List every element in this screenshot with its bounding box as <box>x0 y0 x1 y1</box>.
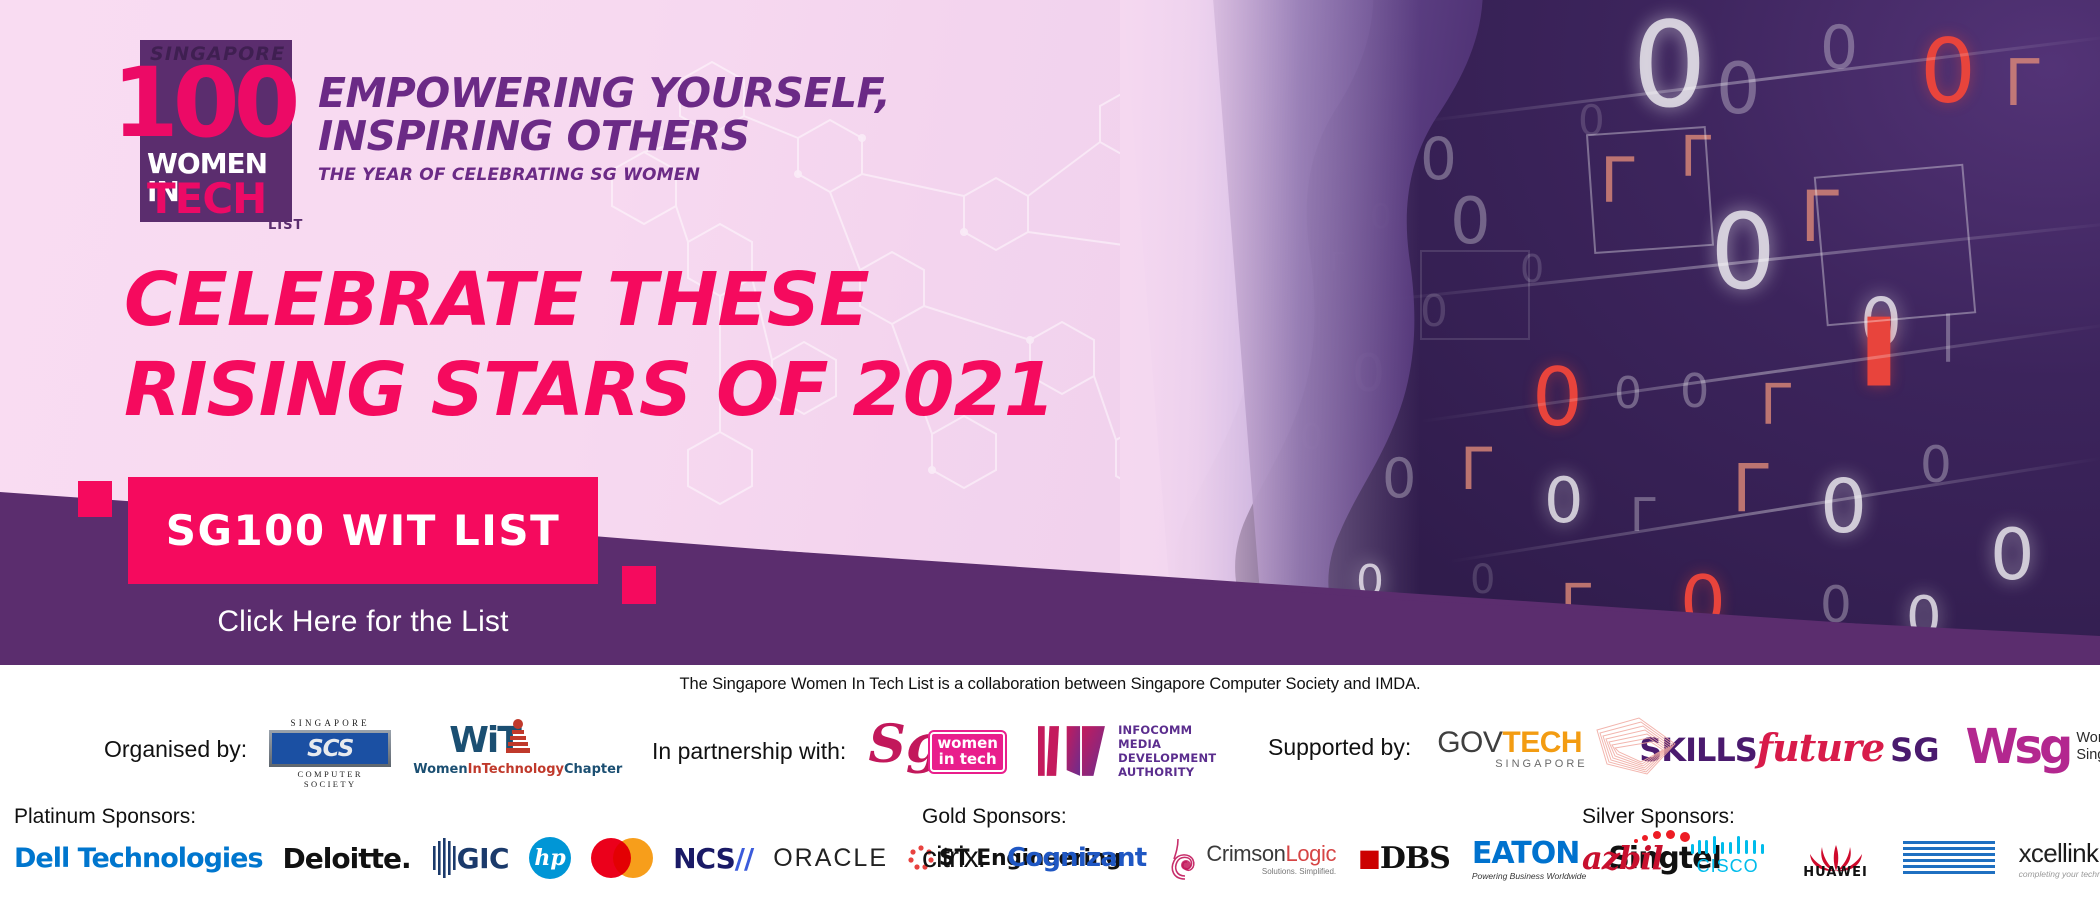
hero-headline: CELEBRATE THESE RISING STARS OF 2021 <box>124 255 1054 436</box>
govtech-singapore-logo[interactable]: GOVTECH SINGAPORE <box>1437 718 1613 776</box>
citrix-text: citrix. <box>922 841 985 875</box>
mastercard-logo[interactable] <box>591 838 653 878</box>
eaton-text: EATON <box>1472 836 1579 871</box>
in-partnership-with-label: In partnership with: <box>652 738 846 765</box>
imda-line-3: DEVELOPMENT <box>1118 751 1216 765</box>
ibm-bars-icon <box>1903 841 1995 875</box>
xcel-word: xcel <box>2019 838 2062 868</box>
cisco-logo[interactable]: CISCO <box>1687 836 1769 880</box>
link-word: link <box>2062 838 2098 868</box>
deloitte-logo[interactable]: Deloitte. <box>283 842 411 875</box>
partner-group-in-partnership: In partnership with: Sg women in tech <box>652 718 1216 784</box>
wire-frame <box>1814 164 1977 327</box>
wit-sub-a: Women <box>413 762 467 777</box>
wsg-line-1: Workforce <box>2076 730 2100 747</box>
chess-pawn-icon <box>503 718 533 762</box>
tagline-sub: THE YEAR OF CELEBRATING SG WOMEN <box>318 165 890 185</box>
scs-top-text: SINGAPORE <box>269 718 391 728</box>
ncs-slashes: // <box>735 842 753 875</box>
govtech-swirl-icon <box>1587 714 1683 780</box>
women-in-technology-chapter-logo[interactable]: WiT WomenInTechnologyChapter <box>413 718 593 780</box>
singapore-computer-society-logo[interactable]: SINGAPORE SCS COMPUTER SOCIETY <box>269 718 391 780</box>
xcellink-text-block: xcellink.pte.ltd. completing your techno… <box>2019 838 2100 879</box>
govtech-sub-text: SINGAPORE <box>1495 758 1587 770</box>
imda-line-4: AUTHORITY <box>1118 765 1216 779</box>
logo-tech-text: TECH <box>147 178 266 220</box>
govtech-gov-text: GOV <box>1437 726 1502 759</box>
wsg-line-2: Singapore <box>2076 747 2100 764</box>
ncs-logo[interactable]: NCS// <box>673 842 753 875</box>
hero-photo-digital-head: 0 0 0 0 0 Γ 0 0 0 0 Γ Γ Γ 0 0 0 0 0 0 Γ <box>1120 0 2100 665</box>
skillsfuture-future-text: future <box>1757 725 1884 770</box>
hero-tagline: EMPOWERING YOURSELF, INSPIRING OTHERS TH… <box>318 72 890 185</box>
tagline-line-2: INSPIRING OTHERS <box>318 115 890 158</box>
citrix-logo[interactable]: citrix. <box>922 841 985 875</box>
govtech-tech-text: TECH <box>1502 726 1582 759</box>
skillsfuture-sg-logo[interactable]: SKILLS future SG <box>1639 725 1939 770</box>
crimson-word: Crimson <box>1206 841 1285 866</box>
gic-logo[interactable]: GIC <box>431 838 509 878</box>
photo-left-fade <box>1120 0 1420 665</box>
silver-sponsors-logos: azbil <box>1582 835 2100 881</box>
xcellink-name: xcellink.pte.ltd. <box>2019 838 2100 869</box>
xcellink-tagline: completing your technology chain <box>2019 869 2100 879</box>
crimsonlogic-shell-icon <box>1168 835 1202 881</box>
sg100-wit-list-button[interactable]: SG100 WIT LIST <box>128 477 598 584</box>
decor-square-right <box>622 566 656 604</box>
partner-group-supported-by: Supported by: GOVTECH SINGAPORE <box>1268 718 2100 776</box>
headline-line-2: RISING STARS OF 2021 <box>124 345 1054 435</box>
wit-sub-c: Chapter <box>564 762 622 777</box>
gic-text: GIC <box>457 842 509 875</box>
silver-sponsors-title: Silver Sponsors: <box>1582 805 2100 829</box>
dell-text: Dell Technologies <box>14 843 263 874</box>
sg-women-in-tech-logo[interactable]: Sg women in tech <box>868 718 1016 784</box>
dbs-x-icon: ■ <box>1358 844 1380 872</box>
oracle-text: ORACLE <box>773 844 888 873</box>
gic-mark-icon <box>431 838 457 878</box>
scs-bottom-text: COMPUTER SOCIETY <box>269 769 391 789</box>
mastercard-yellow-circle <box>613 838 653 878</box>
azbil-logo[interactable]: azbil <box>1582 839 1663 877</box>
skillsfuture-sg-text: SG <box>1890 731 1939 769</box>
partners-row: Organised by: SINGAPORE SCS COMPUTER SOC… <box>0 710 2100 800</box>
ibm-logo[interactable] <box>1903 841 1995 875</box>
scs-mark-text: SCS <box>272 733 388 764</box>
logo-list-text: LIST <box>268 218 303 233</box>
silver-sponsors-block: Silver Sponsors: azbil <box>1582 805 2100 881</box>
logic-word: Logic <box>1286 841 1337 866</box>
azbil-text: azbil <box>1582 839 1663 877</box>
dbs-logo[interactable]: ■DBS <box>1358 841 1450 876</box>
eaton-logo[interactable]: EATON Powering Business Worldwide <box>1472 836 1586 881</box>
wsg-text-block: Workforce Singapore <box>2076 730 2100 764</box>
scs-emblem: SCS <box>269 730 391 767</box>
workforce-singapore-logo[interactable]: Wsg Workforce Singapore <box>1965 723 2100 771</box>
ncs-text: NCS <box>673 842 735 875</box>
dbs-text: DBS <box>1380 841 1450 876</box>
imda-line-1: INFOCOMM <box>1118 723 1216 737</box>
wit-sub-b: InTechnology <box>468 762 564 777</box>
xcellink-logo[interactable]: xcellink.pte.ltd. completing your techno… <box>2019 838 2100 879</box>
logo-100-text: 100 <box>112 64 294 143</box>
wsg-mark-text: Wsg <box>1965 723 2069 771</box>
cisco-text: CISCO <box>1687 856 1769 877</box>
crimsonlogic-logo[interactable]: CrimsonLogic Solutions. Simplified. <box>1168 835 1336 881</box>
hp-text: hp <box>534 845 565 871</box>
dell-technologies-logo[interactable]: Dell Technologies <box>14 843 263 874</box>
imda-mark-icon <box>1038 725 1109 777</box>
footer: The Singapore Women In Tech List is a co… <box>0 665 2100 900</box>
oracle-logo[interactable]: ORACLE <box>773 844 888 873</box>
huawei-text: HUAWEI <box>1793 865 1879 880</box>
hp-logo[interactable]: hp <box>529 837 571 879</box>
decor-square-left <box>78 481 112 517</box>
cognizant-logo[interactable]: Cognizant <box>1007 843 1146 873</box>
banner-page: 0 0 0 0 0 Γ 0 0 0 0 Γ Γ Γ 0 0 0 0 0 0 Γ <box>0 0 2100 900</box>
sgwit-badge: women in tech <box>930 732 1005 772</box>
collaboration-note: The Singapore Women In Tech List is a co… <box>0 675 2100 694</box>
headline-line-1: CELEBRATE THESE <box>124 255 1054 345</box>
supported-by-label: Supported by: <box>1268 734 1411 761</box>
imda-logo[interactable]: INFOCOMM MEDIA DEVELOPMENT AUTHORITY <box>1038 723 1216 779</box>
tagline-line-1: EMPOWERING YOURSELF, <box>318 72 890 115</box>
hero-banner: 0 0 0 0 0 Γ 0 0 0 0 Γ Γ Γ 0 0 0 0 0 0 Γ <box>0 0 2100 665</box>
cisco-bars-icon <box>1691 836 1767 854</box>
click-here-for-list-link[interactable]: Click Here for the List <box>128 605 598 639</box>
crimsonlogic-name: CrimsonLogic <box>1206 841 1336 867</box>
cta-button-label: SG100 WIT LIST <box>166 506 561 555</box>
crimsonlogic-tagline: Solutions. Simplified. <box>1206 867 1336 876</box>
govtech-main-text: GOVTECH <box>1437 726 1582 760</box>
partner-group-organised-by: Organised by: SINGAPORE SCS COMPUTER SOC… <box>104 718 593 780</box>
wit-subtitle: WomenInTechnologyChapter <box>413 762 593 777</box>
cognizant-text: Cognizant <box>1007 843 1146 873</box>
deloitte-text: Deloitte. <box>283 842 411 875</box>
sgwit-badge-line-2: in tech <box>937 752 998 768</box>
sg100wit-logo: SINGAPORE 100 WOMEN IN TECH LIST <box>92 40 292 222</box>
organised-by-label: Organised by: <box>104 736 247 763</box>
eaton-tagline: Powering Business Worldwide <box>1472 871 1586 881</box>
crimsonlogic-text-block: CrimsonLogic Solutions. Simplified. <box>1206 841 1336 876</box>
huawei-logo[interactable]: HUAWEI <box>1793 835 1879 881</box>
sponsors-section: Platinum Sponsors: Dell Technologies Del… <box>0 805 2100 900</box>
imda-text-block: INFOCOMM MEDIA DEVELOPMENT AUTHORITY <box>1118 723 1216 779</box>
imda-line-2: MEDIA <box>1118 737 1216 751</box>
